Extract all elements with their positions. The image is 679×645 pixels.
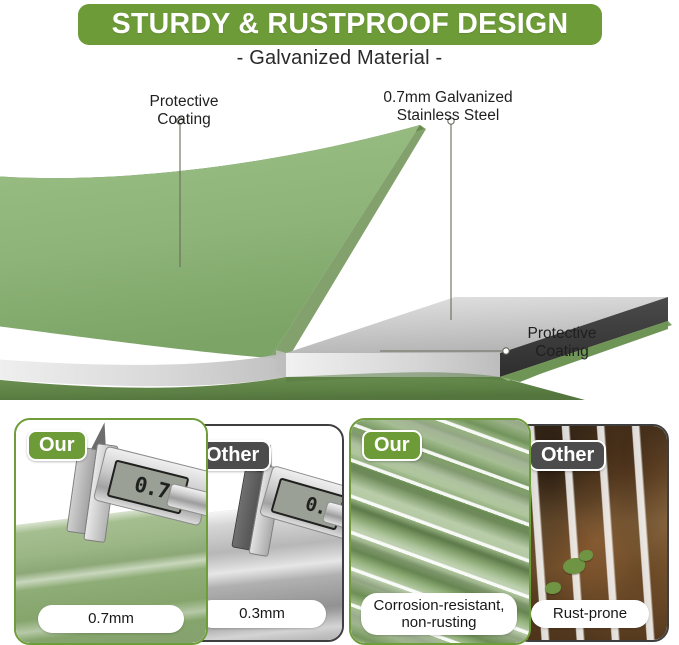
card-corrosion-other: Rust-prone Other: [513, 424, 669, 642]
infographic-page: STURDY & RUSTPROOF DESIGN - Galvanized M…: [0, 0, 679, 645]
title-banner: STURDY & RUSTPROOF DESIGN: [78, 4, 602, 45]
caption-thickness-our-text: 0.7mm: [88, 610, 134, 627]
header: STURDY & RUSTPROOF DESIGN - Galvanized M…: [0, 0, 679, 82]
callout-bottom-coating: Protective Coating: [496, 325, 628, 362]
callout-top-coating-line2: Coating: [120, 111, 248, 129]
caption-thickness-our: 0.7mm: [38, 605, 184, 633]
badge-other-corrosion: Other: [529, 440, 606, 471]
card-thickness-our: 0.70 0.7mm Our: [14, 418, 208, 645]
caption-thickness-other-text: 0.3mm: [239, 605, 285, 622]
caption-corrosion-our-line2: non-rusting: [401, 614, 476, 631]
callout-steel-core-line1: 0.7mm Galvanized: [358, 89, 538, 107]
callout-bottom-coating-line2: Coating: [496, 343, 628, 361]
exploded-layer-diagram: Protective Coating 0.7mm Galvanized Stai…: [0, 82, 679, 400]
caption-corrosion-other-text: Rust-prone: [553, 605, 627, 622]
caption-corrosion-our-line1: Corrosion-resistant,: [374, 597, 505, 614]
caption-thickness-other: 0.3mm: [198, 600, 326, 628]
badge-our-corrosion: Our: [362, 430, 422, 461]
page-title: STURDY & RUSTPROOF DESIGN: [112, 10, 569, 39]
callout-bottom-coating-line1: Protective: [496, 325, 628, 343]
callout-top-coating-line1: Protective: [120, 93, 248, 111]
card-corrosion-our: Corrosion-resistant, non-rusting Our: [349, 418, 531, 645]
callout-top-coating: Protective Coating: [120, 93, 248, 130]
page-subtitle: - Galvanized Material -: [0, 47, 679, 70]
callout-steel-core: 0.7mm Galvanized Stainless Steel: [358, 89, 538, 126]
caption-corrosion-other: Rust-prone: [531, 600, 649, 628]
caption-corrosion-our: Corrosion-resistant, non-rusting: [361, 593, 517, 635]
steel-underside-sliver: [0, 353, 286, 386]
comparison-section: 0.70 0.7mm Our: [0, 408, 679, 645]
badge-our-thickness: Our: [27, 430, 87, 461]
callout-steel-core-line2: Stainless Steel: [358, 107, 538, 125]
